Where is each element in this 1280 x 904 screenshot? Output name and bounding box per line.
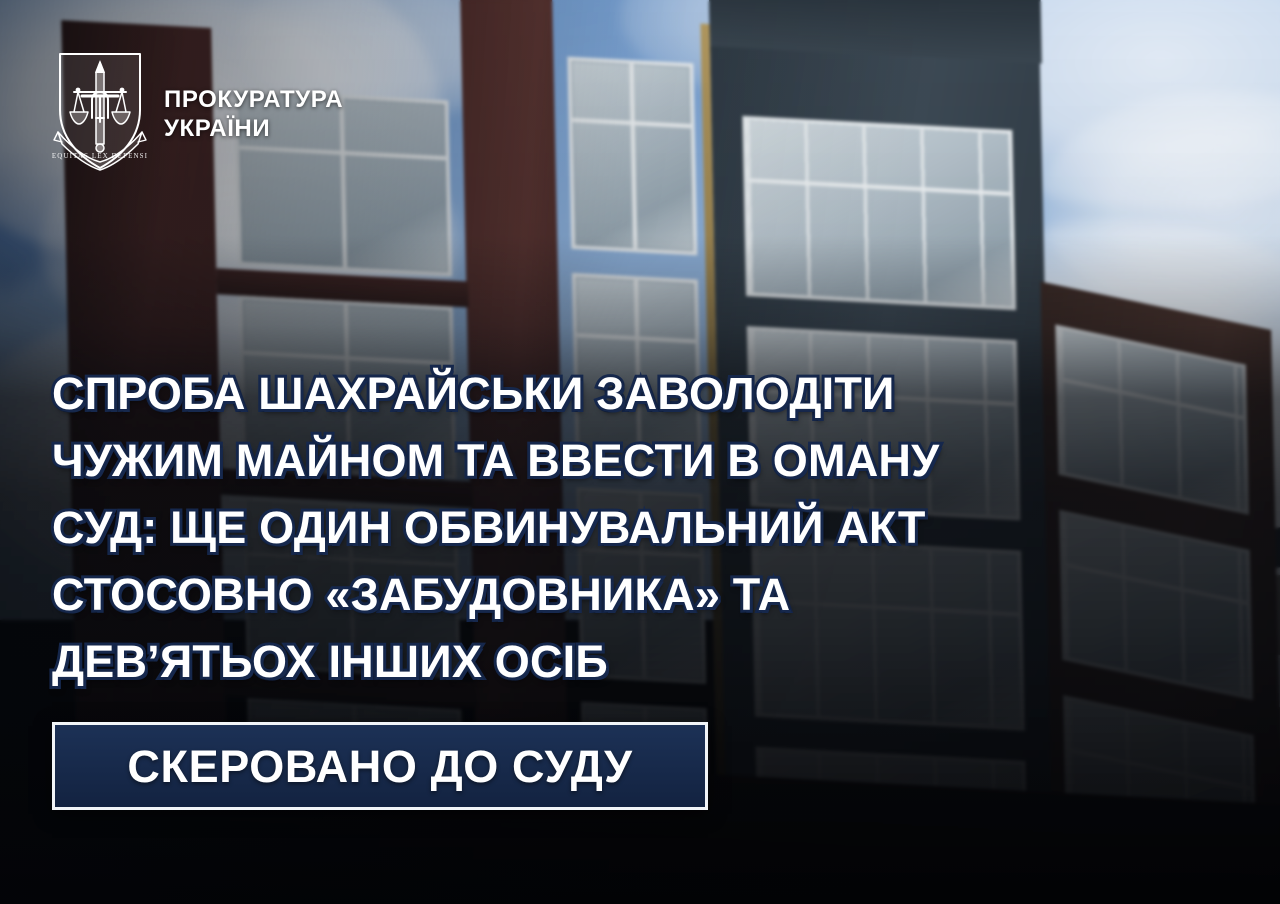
status-badge: СКЕРОВАНО ДО СУДУ [52, 722, 708, 810]
status-badge-label: СКЕРОВАНО ДО СУДУ [127, 744, 632, 789]
headline-line-5: ДЕВ’ЯТЬОХ ІНШИХ ОСІБ [52, 628, 1052, 695]
headline: СПРОБА ШАХРАЙСЬКИ ЗАВОЛОДІТИ ЧУЖИМ МАЙНО… [52, 360, 1052, 695]
brand-lockup: AEQUITAS LEX DEFENSIO ПРОКУРАТУРА УКРАЇН… [52, 48, 343, 180]
prosecutor-shield-emblem-icon: AEQUITAS LEX DEFENSIO [52, 48, 148, 180]
headline-line-1: СПРОБА ШАХРАЙСЬКИ ЗАВОЛОДІТИ [52, 360, 1052, 427]
emblem-motto-text: AEQUITAS LEX DEFENSIO [52, 152, 148, 160]
headline-line-3: СУД: ЩЕ ОДИН ОБВИНУВАЛЬНИЙ АКТ [52, 494, 1052, 561]
organization-name: ПРОКУРАТУРА УКРАЇНИ [164, 85, 343, 144]
headline-line-2: ЧУЖИМ МАЙНОМ ТА ВВЕСТИ В ОМАНУ [52, 427, 1052, 494]
headline-line-4: СТОСОВНО «ЗАБУДОВНИКА» ТА [52, 561, 1052, 628]
news-poster: AEQUITAS LEX DEFENSIO ПРОКУРАТУРА УКРАЇН… [0, 0, 1280, 904]
